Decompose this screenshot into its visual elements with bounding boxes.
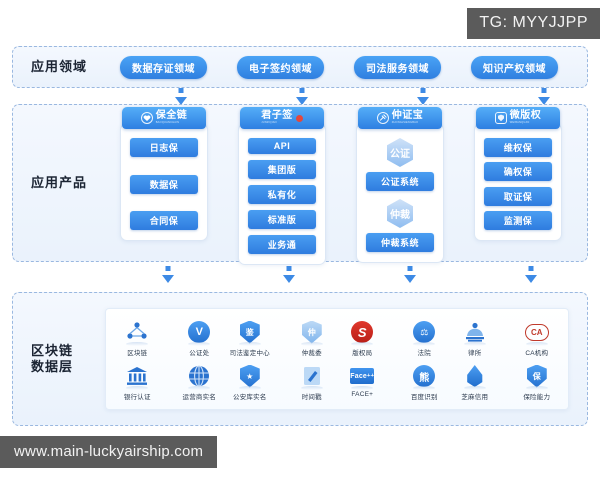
data-row: S 版权局 ⚖ 法院	[338, 319, 448, 357]
domain-chip-e-signing[interactable]: 电子签约领域	[237, 56, 324, 79]
blockchain-data-layer-label-line1: 区块链	[31, 343, 105, 359]
data-item-operator-realname[interactable]: 运营商实名	[175, 363, 223, 401]
data-item-arbitration-commission[interactable]: 仲 仲裁委	[288, 319, 336, 357]
data-row: 区块链 V 公证处	[113, 319, 223, 357]
product-item-yewutong[interactable]: 业务通	[248, 235, 316, 254]
notary-hex-icon: 公证	[387, 138, 413, 167]
data-item-court[interactable]: ⚖ 法院	[400, 319, 448, 357]
data-item-label: 百度识别	[400, 391, 448, 401]
telegram-watermark-tag: TG: MYYJJPP	[467, 8, 600, 39]
timestamp-doc-icon	[299, 363, 325, 389]
blockchain-data-layer-label-line2: 数据层	[31, 359, 105, 375]
arrow-col-3	[397, 266, 423, 288]
bank-icon	[124, 363, 150, 389]
data-group-4: 律所 CA CA机构 芝麻信用 保	[451, 319, 561, 401]
data-source-card: 区块链 V 公证处	[105, 308, 569, 410]
arrow-col-4	[518, 266, 544, 288]
data-row: Face++ FACE+ 熊 百度识别	[338, 363, 448, 401]
data-item-label: 仲裁委	[288, 347, 336, 357]
data-item-sesame-credit[interactable]: 芝麻信用	[451, 363, 499, 401]
data-item-insurance-capability[interactable]: 保 保险能力	[513, 363, 561, 401]
product-item-hetongbao[interactable]: 合同保	[130, 211, 198, 230]
product-item-zhongcaixitong[interactable]: 仲裁系统	[366, 233, 434, 252]
data-item-label: 司法鉴定中心	[226, 347, 274, 357]
data-row: 律所 CA CA机构	[451, 319, 561, 357]
data-item-label: 公安库实名	[226, 391, 274, 401]
data-item-ca-authority[interactable]: CA CA机构	[513, 319, 561, 357]
arrow-col-1	[155, 266, 181, 288]
product-card-weibanquan: 维权保 确权保 取证保 监测保	[474, 123, 562, 241]
data-item-label: 律所	[451, 347, 499, 357]
product-item-gongzhengxitong[interactable]: 公证系统	[366, 172, 434, 191]
baidu-recognition-icon: 熊	[411, 363, 437, 389]
arrow-col-2	[276, 266, 302, 288]
data-item-label: FACE+	[338, 391, 386, 398]
data-row: 银行认证 运营商实名	[113, 363, 223, 401]
product-item-api[interactable]: API	[248, 138, 316, 154]
down-arrow-icon	[283, 266, 295, 288]
data-item-baidu-recognition[interactable]: 熊 百度识别	[400, 363, 448, 401]
brand-header-zhongzhengbao[interactable]: 仲证宝 ZHONGZHENGBAO	[358, 107, 442, 129]
data-item-label: 区块链	[113, 347, 161, 357]
blockchain-data-layer-label: 区块链 数据层	[31, 343, 105, 376]
domain-chip-judicial-service[interactable]: 司法服务领域	[354, 56, 441, 79]
down-arrow-icon	[162, 266, 174, 288]
seal-icon	[296, 115, 303, 122]
brand-text-junziqian: 君子签 JUNZIQIAN	[261, 111, 293, 125]
data-item-judicial-appraisal-center[interactable]: 鉴 司法鉴定中心	[226, 319, 274, 357]
brand-text-weibanquan: 微版权 WEIBANQUAN	[510, 111, 542, 125]
ca-authority-icon: CA	[524, 319, 550, 345]
product-hexblock-notary: 公证 公证系统	[366, 138, 434, 191]
data-item-notary-office[interactable]: V 公证处	[175, 319, 223, 357]
data-item-police-realname[interactable]: ★ 公安库实名	[226, 363, 274, 401]
data-item-label: 运营商实名	[175, 391, 223, 401]
product-item-siyouhua[interactable]: 私有化	[248, 185, 316, 204]
judicial-shield-icon: 鉴	[237, 319, 263, 345]
data-item-label: 公证处	[175, 347, 223, 357]
blockchain-data-layer-panel: 区块链 数据层 区块链	[12, 292, 588, 426]
data-item-label: 版权局	[338, 347, 386, 357]
brand-subtitle: ZHONGZHENGBAO	[392, 122, 424, 125]
product-item-rizhibao[interactable]: 日志保	[130, 138, 198, 157]
data-row: ★ 公安库实名 时间戳	[226, 363, 336, 401]
brand-name: 仲证宝	[392, 111, 424, 121]
application-product-panel: 应用产品 保全链 BAOQUANCHAIN 日志保 数据保 合同保	[12, 104, 588, 262]
brand-subtitle: JUNZIQIAN	[261, 122, 293, 125]
brand-header-baoquanchain[interactable]: 保全链 BAOQUANCHAIN	[122, 107, 206, 129]
product-column-weibanquan: 微版权 WEIBANQUAN 维权保 确权保 取证保 监测保	[472, 101, 564, 241]
product-item-quzhengbao[interactable]: 取证保	[484, 187, 552, 206]
police-shield-icon: ★	[237, 363, 263, 389]
data-item-label: CA机构	[513, 347, 561, 357]
globe-icon	[186, 363, 212, 389]
url-watermark-tag: www.main-luckyairship.com	[0, 436, 217, 468]
data-group-2: 鉴 司法鉴定中心 仲 仲裁委 ★ 公安库实名	[226, 319, 336, 401]
blockchain-node-icon	[124, 319, 150, 345]
data-item-law-firm[interactable]: 律所	[451, 319, 499, 357]
data-item-blockchain[interactable]: 区块链	[113, 319, 161, 357]
brand-header-weibanquan[interactable]: 微版权 WEIBANQUAN	[476, 107, 560, 129]
arrow-strip-products-to-datalayer	[12, 266, 588, 282]
data-item-label: 法院	[400, 347, 448, 357]
data-item-timestamp[interactable]: 时间戳	[288, 363, 336, 401]
product-card-baoquanchain: 日志保 数据保 合同保	[120, 123, 208, 241]
data-item-label: 银行认证	[113, 391, 161, 401]
law-firm-icon	[462, 319, 488, 345]
data-item-label: 时间戳	[288, 391, 336, 401]
gavel-circle-icon	[377, 112, 389, 124]
product-item-shujubao[interactable]: 数据保	[130, 175, 198, 194]
data-group-1: 区块链 V 公证处	[113, 319, 223, 401]
product-card-zhongzhengbao: 公证 公证系统 仲裁 仲裁系统	[356, 123, 444, 263]
verified-check-icon: V	[186, 319, 212, 345]
application-domain-panel: 应用领域 数据存证领域 电子签约领域 司法服务领域 知识产权领域	[12, 46, 588, 88]
brand-subtitle: WEIBANQUAN	[510, 122, 542, 125]
product-card-junziqian: API 集团版 私有化 标准版 业务通	[238, 123, 326, 265]
brand-name: 君子签	[261, 111, 293, 121]
face-plus-icon: Face++	[349, 363, 375, 389]
brand-header-junziqian[interactable]: 君子签 JUNZIQIAN	[240, 107, 324, 129]
copyright-bureau-s-icon: S	[349, 319, 375, 345]
data-item-label: 芝麻信用	[451, 391, 499, 401]
arbitration-badge-icon: 仲	[299, 319, 325, 345]
product-column-baoquanchain: 保全链 BAOQUANCHAIN 日志保 数据保 合同保	[118, 101, 210, 241]
product-hexblock-arbitration: 仲裁 仲裁系统	[366, 199, 434, 252]
domain-chip-intellectual-property[interactable]: 知识产权领域	[471, 56, 558, 79]
down-arrow-icon	[404, 266, 416, 288]
data-item-label: 保险能力	[513, 391, 561, 401]
domain-chip-list: 数据存证领域 电子签约领域 司法服务领域 知识产权领域	[105, 56, 587, 79]
brand-subtitle: BAOQUANCHAIN	[156, 122, 188, 125]
court-badge-icon: ⚖	[411, 319, 437, 345]
down-arrow-icon	[525, 266, 537, 288]
copyright-shield-icon	[495, 112, 507, 124]
data-item-bank-certification[interactable]: 银行认证	[113, 363, 161, 401]
product-item-jiancebao[interactable]: 监测保	[484, 211, 552, 230]
brand-text-zhongzhengbao: 仲证宝 ZHONGZHENGBAO	[392, 111, 424, 125]
product-item-biaozhunban[interactable]: 标准版	[248, 210, 316, 229]
brand-text-baoquanchain: 保全链 BAOQUANCHAIN	[156, 111, 188, 125]
data-row: 鉴 司法鉴定中心 仲 仲裁委	[226, 319, 336, 357]
data-item-face-plus[interactable]: Face++ FACE+	[338, 363, 386, 401]
brand-name: 保全链	[156, 111, 188, 121]
sesame-credit-icon	[462, 363, 488, 389]
data-item-copyright-bureau[interactable]: S 版权局	[338, 319, 386, 357]
arbitration-hex-icon: 仲裁	[387, 199, 413, 228]
data-row: 芝麻信用 保 保险能力	[451, 363, 561, 401]
insurance-shield-icon: 保	[524, 363, 550, 389]
data-group-3: S 版权局 ⚖ 法院 Face++ FACE+	[338, 319, 448, 401]
application-product-label: 应用产品	[31, 175, 105, 191]
heart-shield-icon	[141, 112, 153, 124]
product-item-weiquanbao[interactable]: 维权保	[484, 138, 552, 157]
product-column-junziqian: 君子签 JUNZIQIAN API 集团版 私有化 标准版 业务通	[236, 101, 328, 265]
product-column-list: 保全链 BAOQUANCHAIN 日志保 数据保 合同保 君子签 JUNZIQI…	[105, 101, 587, 265]
product-item-jituanban[interactable]: 集团版	[248, 160, 316, 179]
brand-name: 微版权	[510, 111, 542, 121]
domain-chip-data-storage[interactable]: 数据存证领域	[120, 56, 207, 79]
product-column-zhongzhengbao: 仲证宝 ZHONGZHENGBAO 公证 公证系统 仲裁 仲裁系统	[354, 101, 446, 263]
product-item-quequanbao[interactable]: 确权保	[484, 162, 552, 181]
application-domain-label: 应用领域	[31, 59, 105, 75]
